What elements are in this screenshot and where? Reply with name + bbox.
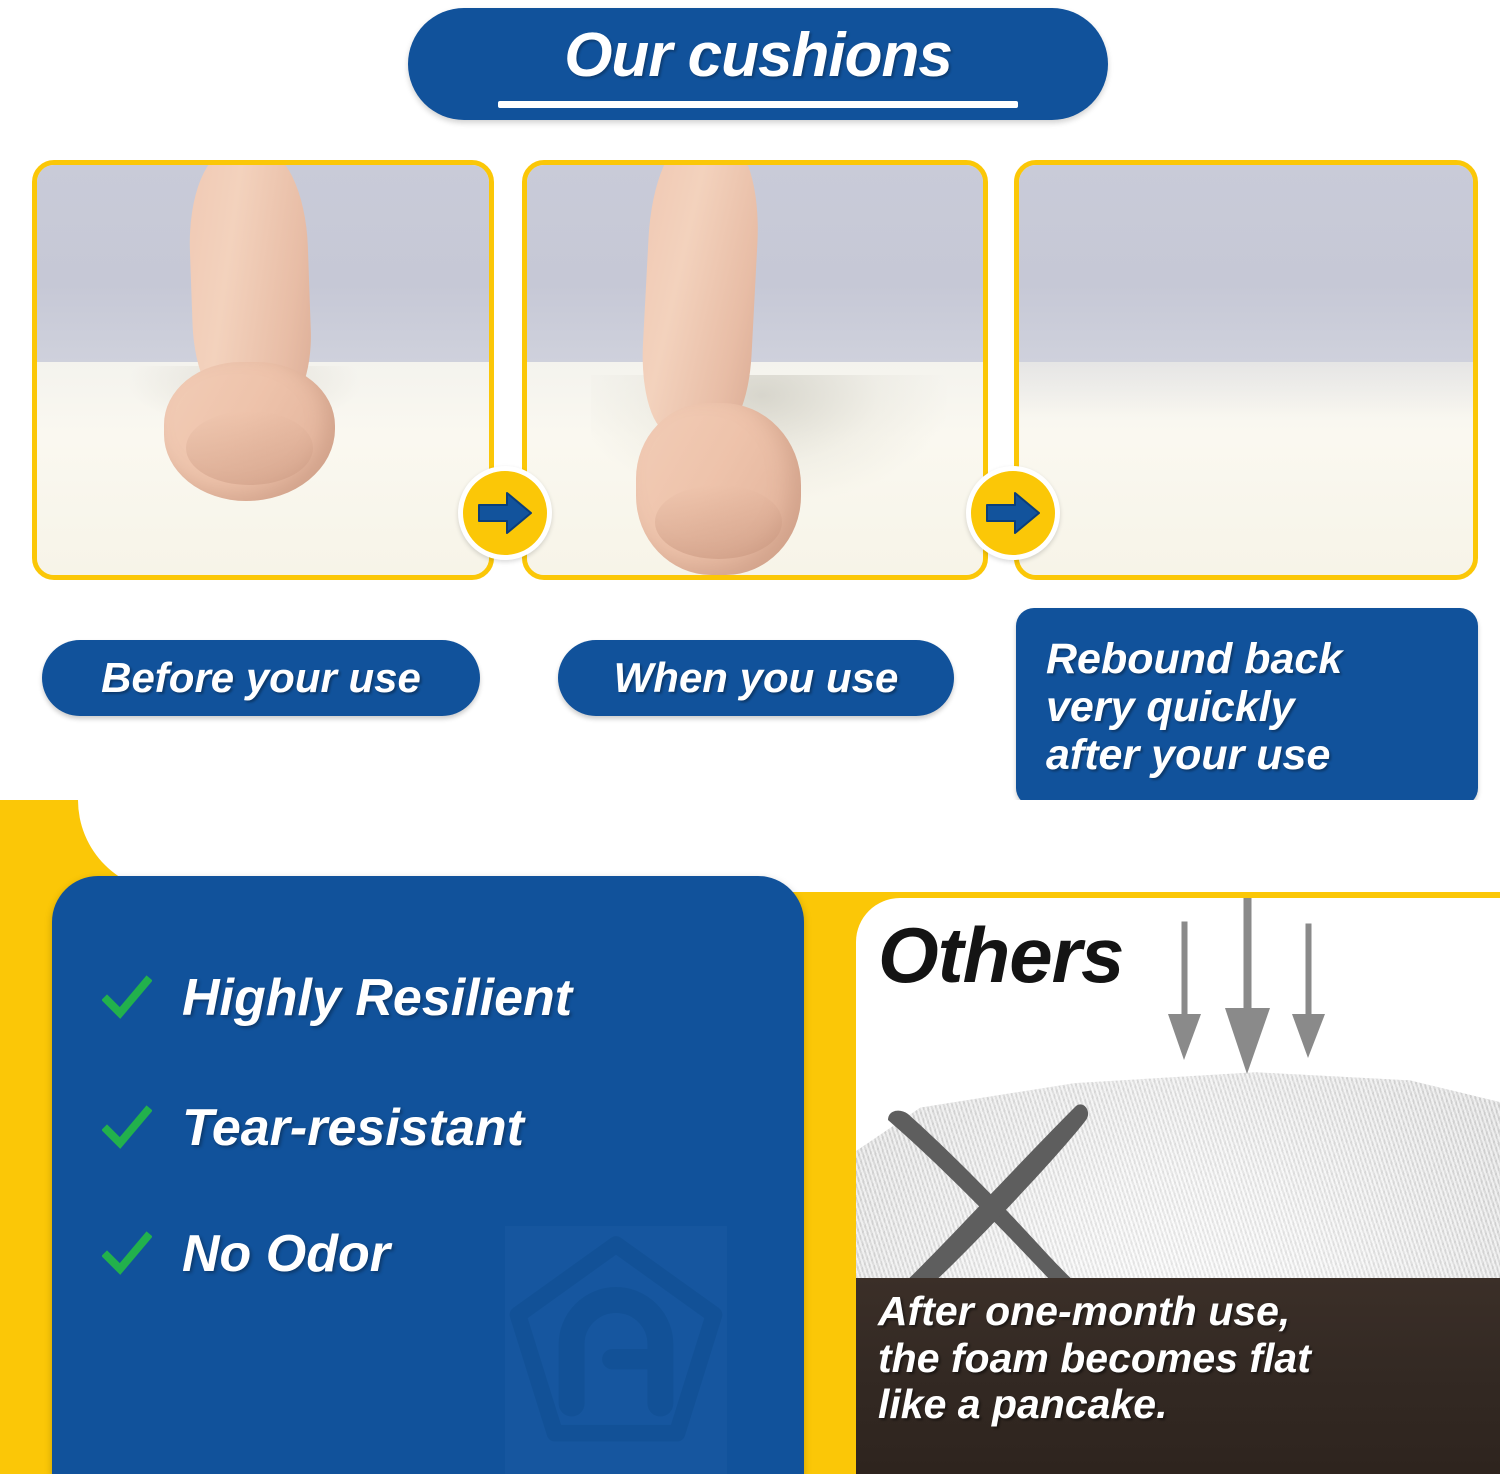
feature-item: No Odor bbox=[102, 1224, 390, 1284]
foam-scene-pressing bbox=[527, 165, 983, 575]
feature-label: No Odor bbox=[182, 1224, 390, 1284]
feature-item: Highly Resilient bbox=[102, 968, 572, 1028]
foam-surface-recovered bbox=[1019, 362, 1473, 575]
others-footer-text: After one-month use, the foam becomes fl… bbox=[878, 1288, 1486, 1428]
caption-line-2: very quickly bbox=[1046, 683, 1295, 731]
down-arrows-icon bbox=[1146, 898, 1346, 1074]
others-footer-banner: After one-month use, the foam becomes fl… bbox=[856, 1278, 1500, 1474]
backdrop-wall bbox=[1019, 165, 1473, 362]
process-step-image-3 bbox=[1014, 160, 1478, 580]
feature-label: Tear-resistant bbox=[182, 1098, 524, 1158]
process-step-caption-3: Rebound back very quickly after your use bbox=[1016, 608, 1478, 806]
check-icon bbox=[102, 973, 152, 1023]
process-step-image-2 bbox=[522, 160, 988, 580]
others-comparison-card: Others After one-month use, the foam bec… bbox=[856, 898, 1500, 1474]
others-title: Others bbox=[878, 916, 1123, 994]
foam-scene-before bbox=[37, 165, 489, 575]
process-step-caption-2: When you use bbox=[558, 640, 954, 716]
caption-line-1: Rebound back bbox=[1046, 635, 1342, 683]
process-step-image-1 bbox=[32, 160, 494, 580]
page-title-banner: Our cushions bbox=[408, 8, 1108, 120]
process-step-caption-1: Before your use bbox=[42, 640, 480, 716]
feature-item: Tear-resistant bbox=[102, 1098, 524, 1158]
caption-line-3: after your use bbox=[1046, 731, 1330, 779]
footer-line-2: the foam becomes flat bbox=[878, 1335, 1486, 1382]
forearm-shape bbox=[638, 160, 763, 438]
arrow-right-icon bbox=[966, 466, 1060, 560]
check-icon bbox=[102, 1103, 152, 1153]
check-icon bbox=[102, 1229, 152, 1279]
footer-line-3: like a pancake. bbox=[878, 1381, 1486, 1428]
pentagon-brand-logo-icon bbox=[505, 1226, 727, 1474]
feature-label: Highly Resilient bbox=[182, 968, 572, 1028]
arrow-right-icon bbox=[458, 466, 552, 560]
process-photo-row bbox=[0, 160, 1500, 580]
title-underline bbox=[498, 101, 1018, 108]
features-card: Highly Resilient Tear-resistant No Odor bbox=[52, 876, 804, 1474]
foam-scene-rebounded bbox=[1019, 165, 1473, 575]
page-title: Our cushions bbox=[564, 25, 952, 87]
knuckle-shading bbox=[186, 411, 313, 485]
footer-line-1: After one-month use, bbox=[878, 1288, 1486, 1335]
knuckle-shading bbox=[655, 485, 783, 559]
